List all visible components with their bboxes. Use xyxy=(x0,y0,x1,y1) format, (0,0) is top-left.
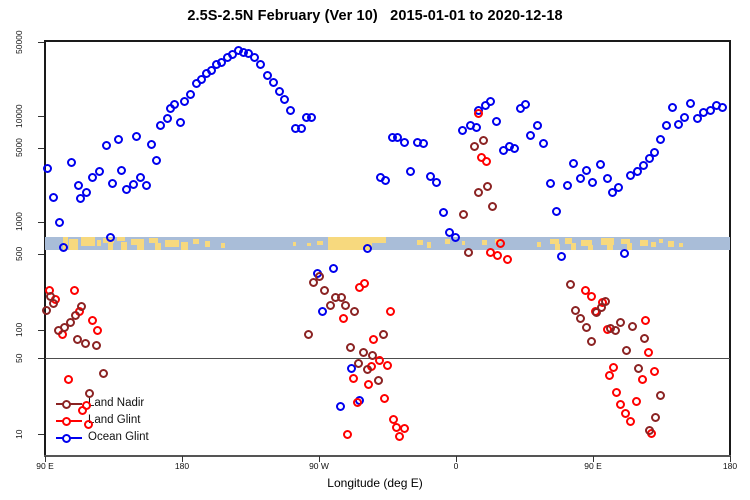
data-point xyxy=(576,314,585,323)
data-point xyxy=(343,430,352,439)
data-point xyxy=(129,180,138,189)
data-point xyxy=(488,202,497,211)
data-point xyxy=(621,409,630,418)
legend-marker-icon xyxy=(62,400,71,409)
legend-marker-icon xyxy=(62,417,71,426)
data-point xyxy=(374,376,383,385)
data-point xyxy=(136,173,145,182)
legend-marker-icon xyxy=(62,434,71,443)
data-point xyxy=(55,218,64,227)
data-point xyxy=(718,103,727,112)
data-point xyxy=(563,181,572,190)
data-point xyxy=(609,363,618,372)
data-point xyxy=(526,131,535,140)
data-point xyxy=(307,113,316,122)
data-point xyxy=(359,348,368,357)
data-point xyxy=(71,311,80,320)
data-point xyxy=(349,374,358,383)
y-tick-label: 50 xyxy=(14,340,24,376)
data-point xyxy=(346,343,355,352)
data-point xyxy=(74,181,83,190)
legend-label: Land Glint xyxy=(88,414,140,426)
data-point xyxy=(49,299,58,308)
legend-label: Land Nadir xyxy=(88,397,144,409)
data-point xyxy=(533,121,542,130)
data-point xyxy=(360,279,369,288)
data-point xyxy=(459,210,468,219)
data-point xyxy=(400,138,409,147)
data-point xyxy=(84,420,93,429)
data-point xyxy=(163,114,172,123)
data-point xyxy=(628,322,637,331)
data-point xyxy=(59,243,68,252)
data-point xyxy=(601,297,610,306)
data-point xyxy=(350,307,359,316)
legend-item[interactable]: Ocean Glint xyxy=(56,430,206,446)
data-point xyxy=(419,139,428,148)
data-point xyxy=(400,424,409,433)
data-point xyxy=(406,167,415,176)
x-tick-label: 180 xyxy=(710,461,750,471)
data-point xyxy=(320,286,329,295)
data-point xyxy=(368,351,377,360)
data-point xyxy=(170,100,179,109)
chart-legend: Land NadirLand GlintOcean Glint xyxy=(56,396,206,448)
data-point xyxy=(297,124,306,133)
chart-figure: 2.5S-2.5N February (Ver 10) 2015-01-01 t… xyxy=(0,0,750,500)
data-point xyxy=(93,326,102,335)
data-point xyxy=(616,318,625,327)
data-point xyxy=(510,144,519,153)
data-point xyxy=(381,176,390,185)
data-point xyxy=(64,375,73,384)
data-point xyxy=(318,307,327,316)
x-tick-label: 90 E xyxy=(573,461,613,471)
data-point xyxy=(620,249,629,258)
data-point xyxy=(587,292,596,301)
data-point xyxy=(588,178,597,187)
legend-label: Ocean Glint xyxy=(88,431,149,443)
data-point xyxy=(99,369,108,378)
data-point xyxy=(95,167,104,176)
data-point xyxy=(546,179,555,188)
data-point xyxy=(576,174,585,183)
data-point xyxy=(680,113,689,122)
data-point xyxy=(651,413,660,422)
data-point xyxy=(656,391,665,400)
data-point xyxy=(644,348,653,357)
data-point xyxy=(569,159,578,168)
x-axis-label: Longitude (deg E) xyxy=(0,476,750,490)
data-point xyxy=(557,252,566,261)
data-point xyxy=(521,100,530,109)
data-point xyxy=(336,402,345,411)
data-point xyxy=(641,316,650,325)
data-point xyxy=(280,95,289,104)
data-point xyxy=(85,389,94,398)
data-point xyxy=(492,117,501,126)
data-point xyxy=(582,323,591,332)
data-point xyxy=(132,132,141,141)
data-point xyxy=(176,118,185,127)
data-point xyxy=(82,188,91,197)
data-point xyxy=(650,148,659,157)
data-point xyxy=(668,103,677,112)
data-point xyxy=(645,426,654,435)
y-tick-label: 10000 xyxy=(14,98,24,134)
data-point xyxy=(286,106,295,115)
data-point xyxy=(662,121,671,130)
data-point xyxy=(108,179,117,188)
data-point xyxy=(458,126,467,135)
data-point xyxy=(383,361,392,370)
data-point xyxy=(269,78,278,87)
x-tick-label: 90 E xyxy=(25,461,65,471)
data-point xyxy=(363,244,372,253)
data-point xyxy=(605,371,614,380)
data-point xyxy=(88,316,97,325)
data-point xyxy=(640,334,649,343)
data-point xyxy=(315,272,324,281)
data-point xyxy=(117,166,126,175)
data-point xyxy=(329,264,338,273)
data-point xyxy=(638,375,647,384)
y-tick-label: 50000 xyxy=(14,24,24,60)
data-point xyxy=(43,164,52,173)
data-point xyxy=(386,307,395,316)
data-point xyxy=(339,314,348,323)
y-tick-label: 10 xyxy=(14,416,24,452)
data-point xyxy=(439,208,448,217)
data-point xyxy=(486,97,495,106)
data-point xyxy=(353,398,362,407)
data-point xyxy=(470,142,479,151)
data-point xyxy=(496,239,505,248)
data-point xyxy=(379,330,388,339)
data-point xyxy=(616,400,625,409)
data-point xyxy=(341,301,350,310)
data-point xyxy=(474,109,483,118)
data-point xyxy=(503,255,512,264)
data-point xyxy=(582,166,591,175)
data-point xyxy=(152,156,161,165)
data-point xyxy=(364,380,373,389)
data-point xyxy=(596,160,605,169)
plot-axis-bottom xyxy=(44,455,731,457)
data-point xyxy=(380,394,389,403)
data-point xyxy=(472,123,481,132)
data-point xyxy=(603,174,612,183)
data-point xyxy=(626,417,635,426)
data-point xyxy=(363,365,372,374)
data-point xyxy=(539,139,548,148)
x-tick-label: 90 W xyxy=(299,461,339,471)
data-point xyxy=(587,337,596,346)
x-tick-label: 180 xyxy=(162,461,202,471)
data-point xyxy=(451,233,460,242)
data-point xyxy=(369,335,378,344)
data-point xyxy=(77,302,86,311)
data-point xyxy=(326,301,335,310)
data-point xyxy=(67,158,76,167)
legend-item[interactable]: Land Glint xyxy=(56,413,206,429)
data-point xyxy=(622,346,631,355)
data-point xyxy=(479,136,488,145)
data-point xyxy=(147,140,156,149)
data-point xyxy=(634,364,643,373)
data-point xyxy=(432,178,441,187)
data-point xyxy=(656,135,665,144)
data-point xyxy=(106,233,115,242)
data-point xyxy=(482,157,491,166)
data-point xyxy=(92,341,101,350)
data-point xyxy=(483,182,492,191)
data-point xyxy=(304,330,313,339)
data-point xyxy=(256,60,265,69)
data-point xyxy=(611,326,620,335)
data-point xyxy=(632,397,641,406)
data-point xyxy=(464,248,473,257)
plot-area xyxy=(44,40,730,455)
data-point xyxy=(142,181,151,190)
data-point xyxy=(474,188,483,197)
data-point xyxy=(82,401,91,410)
data-point xyxy=(566,280,575,289)
data-point xyxy=(49,193,58,202)
data-point xyxy=(186,90,195,99)
data-point xyxy=(81,339,90,348)
data-point xyxy=(42,306,51,315)
data-point xyxy=(650,367,659,376)
data-point xyxy=(354,359,363,368)
data-point xyxy=(102,141,111,150)
data-point xyxy=(114,135,123,144)
data-point xyxy=(493,251,502,260)
data-point xyxy=(70,286,79,295)
data-point xyxy=(395,432,404,441)
chart-title: 2.5S-2.5N February (Ver 10) 2015-01-01 t… xyxy=(0,8,750,24)
data-point xyxy=(612,388,621,397)
data-point xyxy=(156,121,165,130)
data-point xyxy=(686,99,695,108)
data-point xyxy=(571,306,580,315)
y-tick-label: 5000 xyxy=(14,130,24,166)
data-point xyxy=(614,183,623,192)
data-point xyxy=(552,207,561,216)
data-point xyxy=(275,87,284,96)
x-tick-label: 0 xyxy=(436,461,476,471)
